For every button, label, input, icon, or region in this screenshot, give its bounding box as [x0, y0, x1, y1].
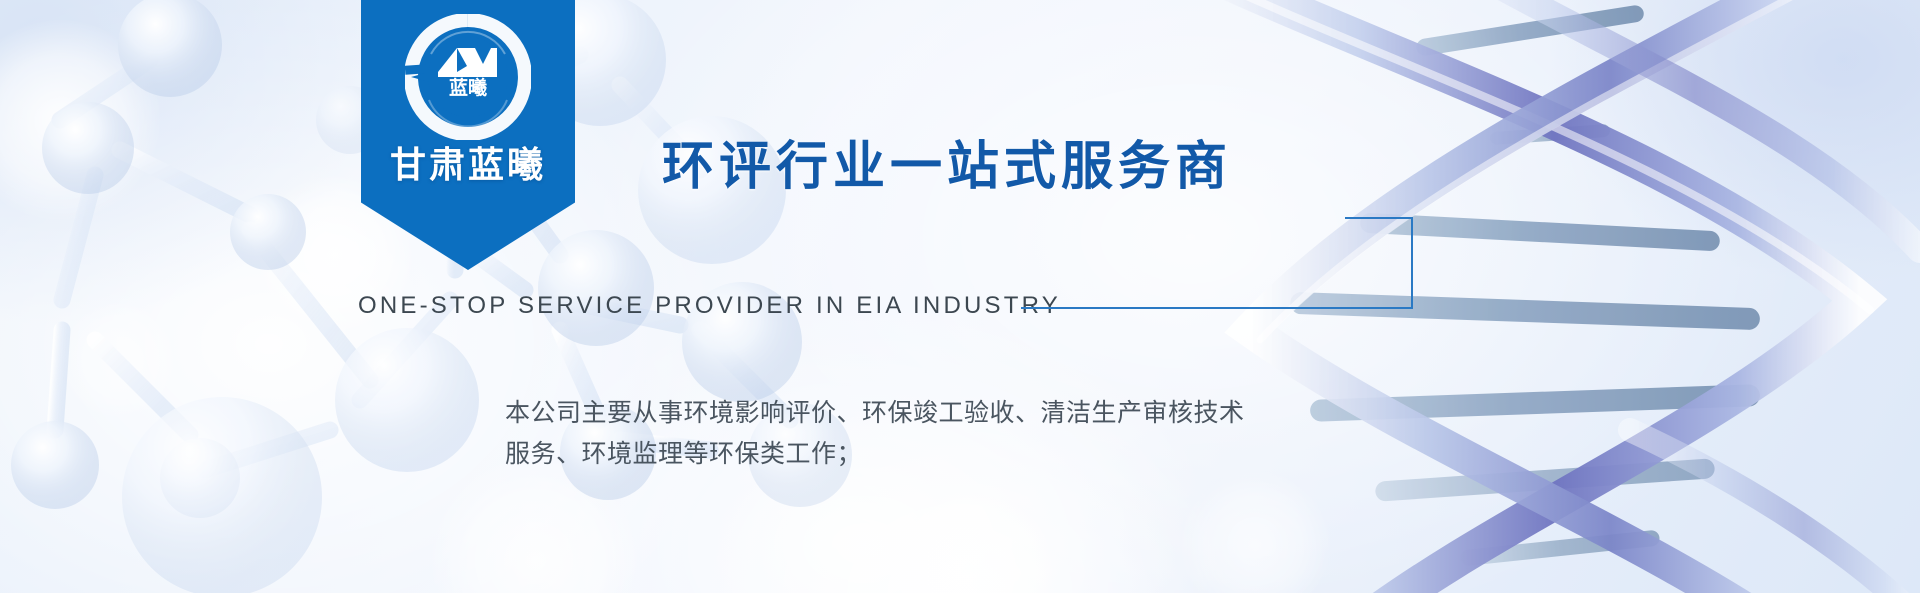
bokeh-highlight [0, 20, 160, 220]
hero-banner: 蓝曦 甘肃蓝曦 环评行业一站式服务商 ONE-STOP SERVICE PROV… [0, 0, 1920, 593]
company-name: 甘肃蓝曦 [361, 148, 575, 184]
dna-helix-illustration [1160, 0, 1920, 593]
logo-mark-text: 蓝曦 [449, 76, 487, 99]
bokeh-highlight [1180, 470, 1330, 593]
page-title: 环评行业一站式服务商 [662, 140, 1232, 195]
description-text: 本公司主要从事环境影响评价、环保竣工验收、清洁生产审核技术 服务、环境监理等环保… [505, 392, 1265, 475]
company-badge: 蓝曦 甘肃蓝曦 [361, 0, 575, 270]
bokeh-highlight [430, 455, 640, 593]
page-subtitle: ONE-STOP SERVICE PROVIDER IN EIA INDUSTR… [358, 292, 1061, 320]
lanxi-circle-logo-icon: 蓝曦 [405, 14, 531, 140]
bracket-middle-rule [1021, 307, 1413, 309]
description-line: 服务、环境监理等环保类工作； [505, 433, 1265, 474]
bracket-right-rule [1411, 217, 1413, 309]
bracket-top-rule [1345, 217, 1413, 219]
bokeh-highlight [60, 300, 180, 420]
description-line: 本公司主要从事环境影响评价、环保竣工验收、清洁生产审核技术 [505, 392, 1265, 433]
bokeh-highlight [880, 480, 1060, 593]
